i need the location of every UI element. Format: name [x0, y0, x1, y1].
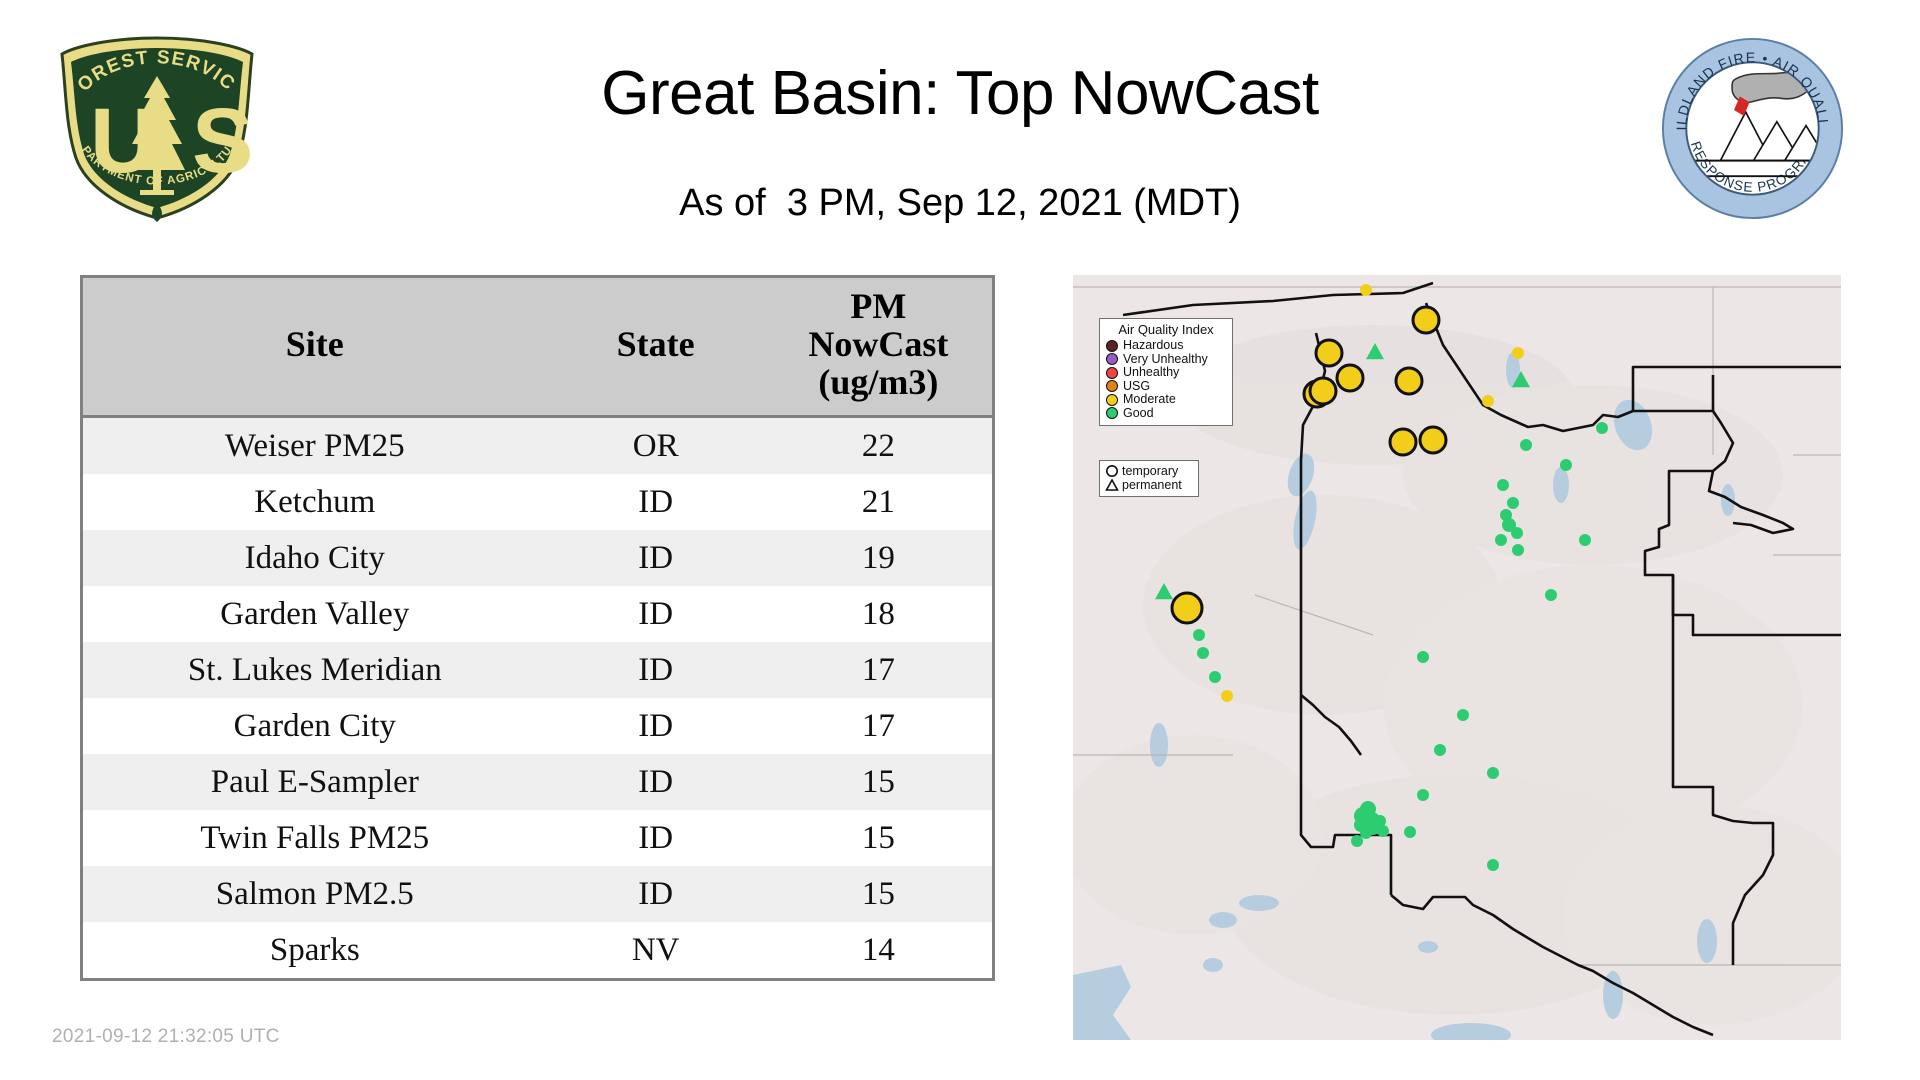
aqi-legend-row: Hazardous [1106, 339, 1226, 352]
table-row: Garden CityID17 [83, 698, 992, 754]
table-row: SparksNV14 [83, 922, 992, 978]
aqi-swatch-icon [1106, 353, 1118, 365]
monitor-marker-temporary[interactable] [1413, 307, 1439, 333]
aqi-legend-title: Air Quality Index [1106, 323, 1226, 337]
cell-state: ID [547, 754, 765, 810]
aqi-legend: Air Quality Index HazardousVery Unhealth… [1099, 318, 1233, 426]
monitor-marker-permanent-dot[interactable] [1545, 589, 1557, 601]
aqi-swatch-icon [1106, 407, 1118, 419]
cell-site: Idaho City [83, 530, 547, 586]
column-header-line-3: (ug/m3) [765, 364, 992, 402]
cell-value: 14 [765, 922, 992, 978]
table-row: Salmon PM2.5ID15 [83, 866, 992, 922]
legend-row-permanent: permanent [1105, 478, 1193, 492]
cell-value: 21 [765, 474, 992, 530]
column-header-line-1: PM [765, 288, 992, 326]
aqi-legend-row: USG [1106, 380, 1226, 393]
cell-site: Sparks [83, 922, 547, 978]
cell-state: ID [547, 642, 765, 698]
legend-row-temporary: temporary [1105, 464, 1193, 478]
cell-value: 15 [765, 866, 992, 922]
cell-state: OR [547, 417, 765, 475]
page-title: Great Basin: Top NowCast [0, 58, 1920, 129]
monitor-marker-permanent-dot[interactable] [1360, 284, 1372, 296]
aqi-legend-row: Moderate [1106, 393, 1226, 406]
table-row: Twin Falls PM25ID15 [83, 810, 992, 866]
monitor-marker-permanent-dot[interactable] [1512, 544, 1524, 556]
cell-site: Garden Valley [83, 586, 547, 642]
cell-site: Salmon PM2.5 [83, 866, 547, 922]
cell-state: ID [547, 474, 765, 530]
monitor-type-legend: temporary permanent [1099, 460, 1199, 497]
monitor-marker-permanent-dot[interactable] [1507, 497, 1519, 509]
monitor-marker-permanent-dot[interactable] [1417, 789, 1429, 801]
monitor-marker-permanent-dot[interactable] [1495, 534, 1507, 546]
monitor-marker-temporary[interactable] [1337, 365, 1363, 391]
legend-label-temporary: temporary [1122, 465, 1178, 478]
monitor-marker-permanent-dot[interactable] [1497, 479, 1509, 491]
monitor-marker-permanent-dot[interactable] [1487, 767, 1499, 779]
cell-site: Paul E-Sampler [83, 754, 547, 810]
air-quality-monitor-map[interactable]: Air Quality Index HazardousVery Unhealth… [1073, 275, 1841, 1040]
monitor-marker-permanent-dot[interactable] [1209, 671, 1221, 683]
monitor-marker-permanent-dot[interactable] [1417, 651, 1429, 663]
top-nowcast-table: Site State PM NowCast (ug/m3) Weiser PM2… [80, 275, 995, 981]
table-header-row: Site State PM NowCast (ug/m3) [83, 278, 992, 417]
cell-value: 22 [765, 417, 992, 475]
aqi-legend-label: Moderate [1123, 393, 1176, 406]
permanent-triangle-icon [1105, 478, 1119, 492]
cell-site: Garden City [83, 698, 547, 754]
aqi-legend-row: Good [1106, 407, 1226, 420]
cell-state: ID [547, 586, 765, 642]
table-row: Garden ValleyID18 [83, 586, 992, 642]
table-row: Idaho CityID19 [83, 530, 992, 586]
monitor-marker-permanent-dot[interactable] [1511, 527, 1523, 539]
monitor-marker-permanent-dot[interactable] [1482, 395, 1494, 407]
aqi-legend-label: Unhealthy [1123, 366, 1179, 379]
monitor-marker-temporary[interactable] [1316, 340, 1342, 366]
column-header-pm-nowcast: PM NowCast (ug/m3) [765, 278, 992, 417]
monitor-marker-permanent-dot[interactable] [1457, 709, 1469, 721]
monitor-marker-temporary[interactable] [1396, 368, 1422, 394]
monitor-marker-temporary[interactable] [1390, 429, 1416, 455]
table-row: St. Lukes MeridianID17 [83, 642, 992, 698]
cell-value: 17 [765, 698, 992, 754]
cell-state: ID [547, 698, 765, 754]
monitor-marker-temporary[interactable] [1420, 427, 1446, 453]
cell-state: ID [547, 810, 765, 866]
aqi-swatch-icon [1106, 367, 1118, 379]
aqi-swatch-icon [1106, 340, 1118, 352]
cell-site: Twin Falls PM25 [83, 810, 547, 866]
aqi-swatch-icon [1106, 380, 1118, 392]
monitor-marker-permanent-dot[interactable] [1197, 647, 1209, 659]
generated-timestamp: 2021-09-12 21:32:05 UTC [52, 1026, 280, 1048]
monitor-marker-permanent-dot[interactable] [1404, 826, 1416, 838]
monitor-marker-permanent-dot[interactable] [1487, 859, 1499, 871]
column-header-state: State [547, 278, 765, 417]
page-subtitle: As of 3 PM, Sep 12, 2021 (MDT) [0, 182, 1920, 225]
column-header-line-2: NowCast [765, 326, 992, 364]
aqi-legend-label: Hazardous [1123, 339, 1183, 352]
legend-label-permanent: permanent [1122, 479, 1182, 492]
cell-value: 17 [765, 642, 992, 698]
aqi-swatch-icon [1106, 394, 1118, 406]
cell-state: NV [547, 922, 765, 978]
monitor-marker-permanent-dot[interactable] [1512, 347, 1524, 359]
cell-site: Weiser PM25 [83, 417, 547, 475]
aqi-legend-label: Good [1123, 407, 1154, 420]
aqi-legend-row: Unhealthy [1106, 366, 1226, 379]
monitor-marker-permanent-dot[interactable] [1360, 827, 1372, 839]
monitor-marker-temporary[interactable] [1172, 593, 1202, 623]
cell-value: 15 [765, 754, 992, 810]
monitor-marker-permanent-dot[interactable] [1434, 744, 1446, 756]
aqi-legend-label: USG [1123, 380, 1150, 393]
cell-value: 19 [765, 530, 992, 586]
cell-value: 15 [765, 810, 992, 866]
monitor-marker-permanent-dot[interactable] [1193, 629, 1205, 641]
monitor-marker-permanent-dot[interactable] [1579, 534, 1591, 546]
monitor-marker-permanent-dot[interactable] [1351, 835, 1363, 847]
column-header-site: Site [83, 278, 547, 417]
temporary-circle-icon [1105, 464, 1119, 478]
monitor-marker-permanent-dot[interactable] [1560, 459, 1572, 471]
cell-state: ID [547, 866, 765, 922]
table-row: Paul E-SamplerID15 [83, 754, 992, 810]
aqi-legend-label: Very Unhealthy [1123, 353, 1208, 366]
monitor-marker-permanent-dot[interactable] [1221, 690, 1233, 702]
cell-site: Ketchum [83, 474, 547, 530]
monitor-marker-temporary[interactable] [1310, 378, 1336, 404]
aqi-legend-row: Very Unhealthy [1106, 353, 1226, 366]
cell-value: 18 [765, 586, 992, 642]
monitor-marker-permanent-dot[interactable] [1377, 825, 1389, 837]
table-row: Weiser PM25OR22 [83, 417, 992, 475]
monitor-marker-permanent-dot[interactable] [1596, 422, 1608, 434]
table-row: KetchumID21 [83, 474, 992, 530]
monitor-marker-permanent-dot[interactable] [1520, 439, 1532, 451]
cell-site: St. Lukes Meridian [83, 642, 547, 698]
cell-state: ID [547, 530, 765, 586]
